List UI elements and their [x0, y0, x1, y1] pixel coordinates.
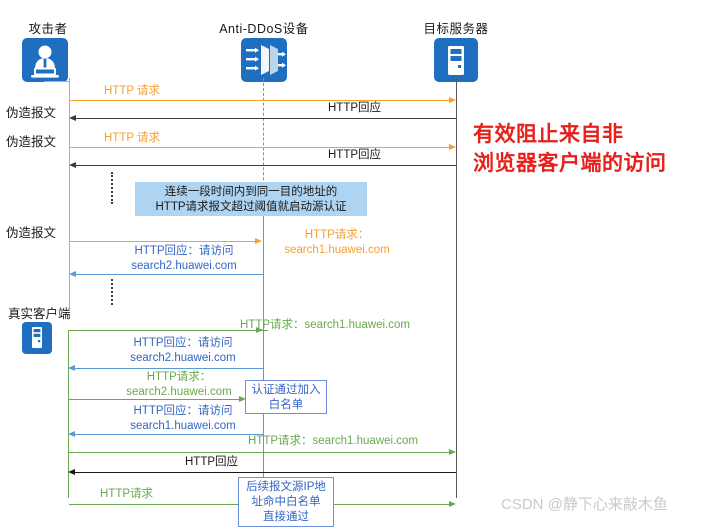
note-threshold: 连续一段时间内到同一目的地址的 HTTP请求报文超过阈值就启动源认证: [135, 182, 367, 216]
lifeline-attacker: [69, 78, 70, 300]
message-arrow-m6: [74, 274, 263, 275]
message-label-m12: HTTP回应: [185, 455, 238, 469]
message-arrow-m12: [73, 472, 456, 473]
sequence-diagram-canvas: 攻击者 Anti-DDoS设备 目标服务器: [0, 0, 724, 527]
message-label-m13: HTTP请求: [100, 487, 153, 501]
message-label-m5b: search1.huawei.com: [272, 243, 402, 257]
client-glyph: [22, 322, 52, 354]
attacker-glyph: [22, 38, 68, 82]
message-label-m9: HTTP请求：: [96, 370, 262, 384]
message-arrowhead-m1: [449, 97, 456, 103]
message-arrowhead-m5: [255, 238, 262, 244]
message-arrowhead-m2: [69, 115, 76, 121]
message-arrow-m8: [73, 368, 263, 369]
message-arrowhead-m6: [69, 271, 76, 277]
lifeline-attacker-elbow: [44, 81, 70, 82]
side-note-forged-2: 伪造报文: [6, 131, 56, 150]
message-label-m9b: search2.huawei.com: [96, 385, 262, 399]
red-callout-line2: 浏览器客户端的访问: [473, 149, 667, 178]
message-arrow-m11: [69, 452, 453, 453]
note-whitelist-hit: 后续报文源IP地 址命中白名单 直接通过: [238, 477, 334, 527]
target-server-icon: [434, 38, 478, 82]
message-label-m4: HTTP回应: [328, 148, 381, 162]
note-whitelist-hit-line1: 后续报文源IP地: [239, 480, 333, 495]
note-whitelist-hit-line3: 直接通过: [239, 510, 333, 525]
message-arrow-m10: [73, 434, 263, 435]
message-arrow-m1: [70, 100, 452, 101]
message-arrowhead-m3: [449, 144, 456, 150]
message-arrowhead-m8: [68, 365, 75, 371]
message-label-m11: HTTP请求：search1.huawei.com: [248, 434, 418, 448]
lifeline-server: [456, 78, 457, 498]
lifeline-attacker-tail: [69, 299, 70, 311]
message-arrowhead-m12: [68, 469, 75, 475]
actor-label-client: 真实客户端: [8, 303, 71, 322]
red-callout-line1: 有效阻止来自非: [473, 120, 667, 149]
side-note-forged-3: 伪造报文: [6, 222, 56, 241]
anti-ddos-device-icon: [241, 38, 287, 82]
note-whitelist-hit-line2: 址命中白名单: [239, 495, 333, 510]
vertical-ellipsis-upper: [111, 172, 113, 204]
vertical-ellipsis-lower: [111, 279, 113, 305]
message-arrowhead-m7: [256, 327, 263, 333]
message-label-m7: HTTP请求：search1.huawei.com: [240, 318, 410, 332]
message-arrowhead-m4: [69, 162, 76, 168]
message-arrowhead-m13: [449, 501, 456, 507]
message-label-m10b: search1.huawei.com: [100, 419, 266, 433]
message-label-m10: HTTP回应：请访问: [100, 404, 266, 418]
message-label-m6: HTTP回应：请访问: [104, 244, 264, 258]
message-arrow-m3: [70, 147, 452, 148]
message-label-m1: HTTP 请求: [104, 84, 160, 98]
message-arrowhead-m10: [68, 431, 75, 437]
message-label-m8b: search2.huawei.com: [100, 351, 266, 365]
actor-label-antiddos: Anti-DDoS设备: [212, 18, 316, 37]
attacker-person-laptop-icon: [22, 38, 68, 82]
red-callout: 有效阻止来自非 浏览器客户端的访问: [473, 120, 667, 178]
message-arrow-m9: [69, 399, 242, 400]
message-label-m6b: search2.huawei.com: [104, 259, 264, 273]
actor-label-attacker: 攻击者: [8, 18, 88, 37]
real-client-device-icon: [22, 322, 52, 354]
message-label-m8: HTTP回应：请访问: [100, 336, 266, 350]
message-label-m2: HTTP回应: [328, 101, 381, 115]
side-note-forged-1: 伪造报文: [6, 102, 56, 121]
watermark-text: CSDN @静下心来敲木鱼: [501, 493, 668, 514]
message-arrow-m2: [74, 118, 456, 119]
lifeline-client-elbow: [68, 330, 268, 331]
note-threshold-line2: HTTP请求报文超过阈值就启动源认证: [135, 200, 367, 215]
message-arrow-m4: [74, 165, 456, 166]
server-glyph: [434, 38, 478, 82]
note-threshold-line1: 连续一段时间内到同一目的地址的: [135, 185, 367, 200]
anti-ddos-glyph: [241, 38, 287, 82]
actor-label-server: 目标服务器: [408, 18, 504, 37]
message-arrow-m5: [70, 241, 258, 242]
message-label-m3: HTTP 请求: [104, 131, 160, 145]
message-arrowhead-m11: [449, 449, 456, 455]
message-label-m5: HTTP请求：: [272, 228, 402, 242]
note-whitelist-line1: 认证通过加入: [246, 383, 326, 398]
